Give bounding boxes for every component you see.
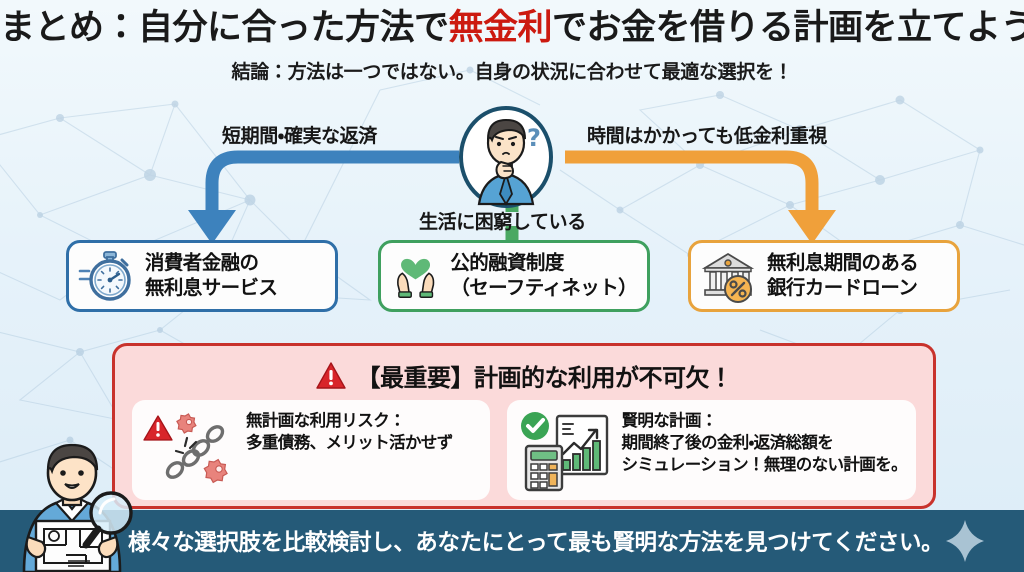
warning-card-plan-text: 賢明な計画： 期間終了後の金利・返済総額を シミュレーション！無理のない計画を。 <box>621 410 907 475</box>
thinking-person-icon: ? <box>459 106 553 208</box>
stopwatch-icon <box>78 249 136 303</box>
svg-text:?: ? <box>527 124 541 152</box>
branch-label-right: 時間はかかっても低金利重視 <box>587 121 827 148</box>
bottom-banner: 様々な選択肢を比較検討し、あなたにとって最も賢明な方法を見つけてください。 <box>0 510 1024 572</box>
option-card-mid-line1: 公的融資制度 <box>450 251 563 274</box>
warning-panel: 【最重要】計画的な利用が不可欠！ <box>112 343 936 509</box>
warning-subcards: 無計画な利用リスク： 多重債務、メリット活かせず <box>115 394 933 500</box>
heart-in-hands-icon <box>390 249 441 303</box>
warning-card-plan-line-1: 期間終了後の金利・返済総額を <box>621 432 907 454</box>
option-card-mid-line2: （セーフティネット） <box>450 276 637 299</box>
option-card-right-text: 無利息期間のある 銀行カードローン <box>767 251 918 301</box>
option-card-consumer-finance[interactable]: 消費者金融の 無利息サービス <box>66 240 338 312</box>
warning-card-smart-plan[interactable]: 賢明な計画： 期間終了後の金利・返済総額を シミュレーション！無理のない計画を。 <box>507 400 916 500</box>
page-title-pre: まとめ：自分に合った方法で <box>0 8 449 48</box>
sparkle-icon <box>944 518 986 564</box>
page-title-highlight: 無金利 <box>449 8 553 48</box>
option-card-bank-cardloan[interactable]: 無利息期間のある 銀行カードローン <box>688 240 960 312</box>
option-card-left-text: 消費者金融の 無利息サービス <box>145 251 277 301</box>
option-card-right-line2: 銀行カードローン <box>767 276 917 299</box>
warning-card-risk-text: 無計画な利用リスク： 多重債務、メリット活かせず <box>246 410 453 454</box>
branch-label-middle: 生活に困窮している <box>419 207 586 234</box>
person-with-blueprint-icon <box>6 437 138 572</box>
warning-card-plan-line-2: シミュレーション！無理のない計画を。 <box>621 454 907 476</box>
branch-label-left: 短期間・確実な返済 <box>222 121 377 148</box>
warning-card-risk-line-1: 多重債務、メリット活かせず <box>246 432 453 454</box>
option-card-public-loan[interactable]: 公的融資制度 （セーフティネット） <box>378 240 650 312</box>
page-subtitle: 結論：方法は一つではない。自身の状況に合わせて最適な選択を！ <box>0 57 1024 84</box>
title-block: まとめ：自分に合った方法で無金利でお金を借りる計画を立てよう 結論：方法は一つで… <box>0 8 1024 84</box>
option-card-left-line2: 無利息サービス <box>145 276 277 299</box>
warning-triangle-icon <box>316 362 346 389</box>
warning-card-risk-line-0: 無計画な利用リスク： <box>246 410 453 432</box>
page-title: まとめ：自分に合った方法で無金利でお金を借りる計画を立てよう <box>0 8 1024 48</box>
option-card-mid-text: 公的融資制度 （セーフティネット） <box>450 251 637 301</box>
bottom-banner-text: 様々な選択肢を比較検討し、あなたにとって最も賢明な方法を見つけてください。 <box>128 525 943 557</box>
warning-heading-text: 【最重要】計画的な利用が不可欠！ <box>357 358 733 393</box>
page-title-post: でお金を借りる計画を立てよう <box>552 8 1024 48</box>
warning-broken-chain-icon <box>143 410 237 492</box>
option-card-right-line1: 無利息期間のある <box>767 251 918 274</box>
warning-card-risk[interactable]: 無計画な利用リスク： 多重債務、メリット活かせず <box>132 400 490 500</box>
warning-panel-heading: 【最重要】計画的な利用が不可欠！ <box>115 356 933 394</box>
warning-card-plan-line-0: 賢明な計画： <box>621 410 907 432</box>
connector-right <box>565 157 836 244</box>
option-card-left-line1: 消費者金融の <box>145 251 258 274</box>
check-calculator-chart-icon <box>518 410 612 492</box>
infographic-canvas: まとめ：自分に合った方法で無金利でお金を借りる計画を立てよう 結論：方法は一つで… <box>0 0 1024 572</box>
bank-percent-icon <box>700 249 758 303</box>
